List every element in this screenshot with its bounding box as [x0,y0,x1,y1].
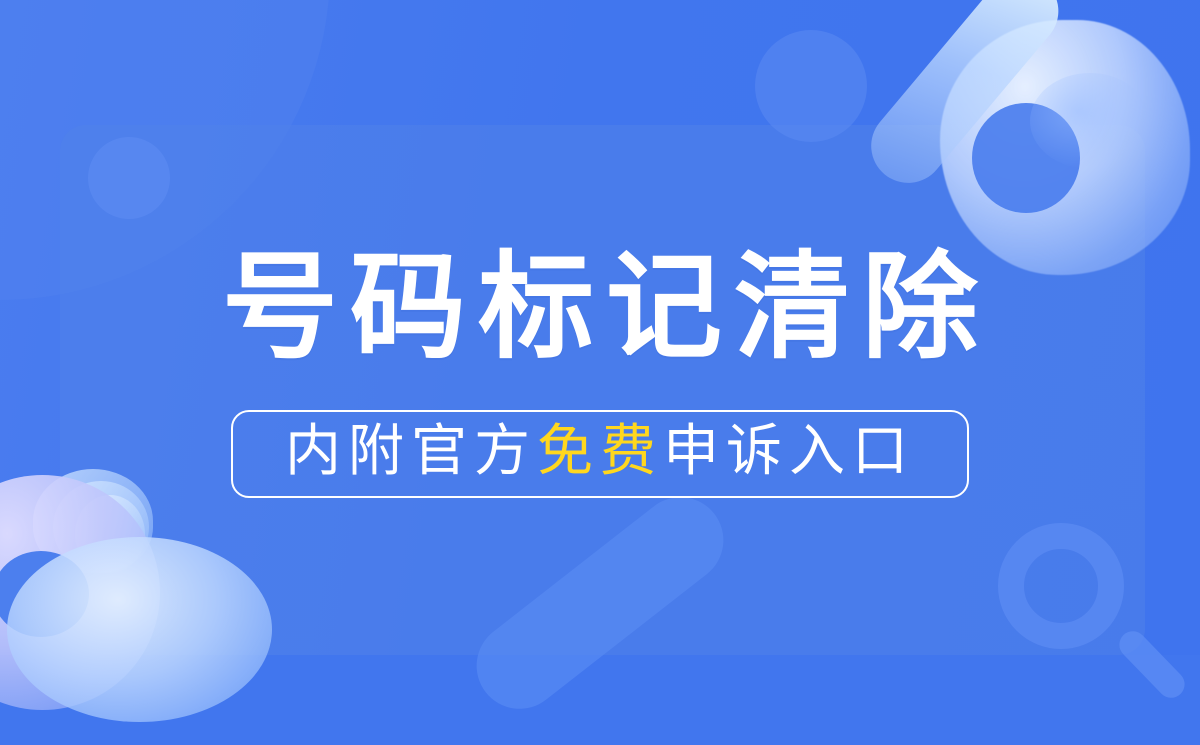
subtitle-box: 内附官方免费申诉入口 [231,410,969,498]
subtitle-highlight: 免费 [537,419,663,484]
headline-title: 号码标记清除 [210,247,990,369]
subtitle-suffix: 申诉入口 [663,419,915,484]
subtitle-text: 内附官方免费申诉入口 [285,419,915,484]
banner-content: 号码标记清除 内附官方免费申诉入口 [0,0,1200,745]
promo-banner: 号码标记清除 内附官方免费申诉入口 [0,0,1200,745]
subtitle-prefix: 内附官方 [285,419,537,484]
